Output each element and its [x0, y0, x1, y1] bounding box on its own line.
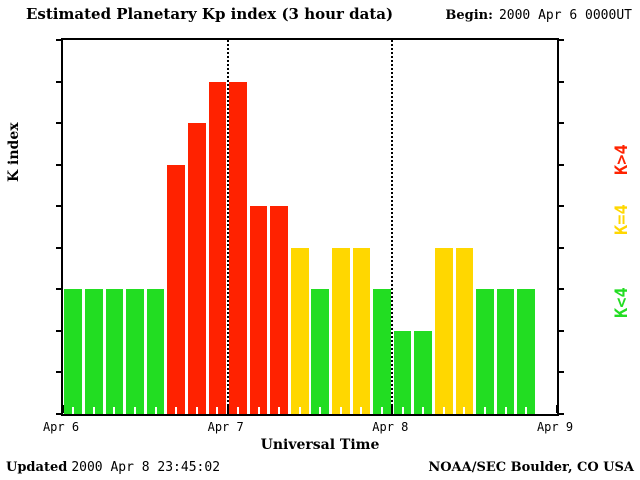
bar — [85, 289, 103, 414]
bar-base-notch — [299, 407, 301, 414]
footer-updated: Updated2000 Apr 8 23:45:02 — [6, 460, 220, 475]
bar-base-notch — [72, 407, 74, 414]
bar — [64, 289, 82, 414]
y-axis-tick — [56, 205, 63, 207]
bar — [394, 331, 412, 414]
bar-base-notch — [381, 407, 383, 414]
bar-base-notch — [134, 407, 136, 414]
y-axis-tick — [56, 122, 63, 124]
plot-area: 0123456789 — [63, 40, 557, 414]
y-axis-tick-right — [557, 330, 564, 332]
bar — [209, 82, 227, 414]
bar — [435, 248, 453, 414]
y-axis-tick — [56, 164, 63, 166]
legend-entry-k-less-than-4: K<4 — [612, 287, 632, 318]
y-axis-tick-right — [557, 288, 564, 290]
bar — [517, 289, 535, 414]
begin-value: 2000 Apr 6 0000UT — [499, 8, 632, 23]
bar — [414, 331, 432, 414]
bar — [476, 289, 494, 414]
y-axis-title: K index — [6, 166, 22, 182]
begin-time-block: Begin:2000 Apr 6 0000UT — [445, 8, 632, 23]
bar-base-notch — [360, 407, 362, 414]
y-axis-tick — [56, 247, 63, 249]
x-axis-tick-label: Apr 8 — [372, 420, 408, 434]
bar-base-notch — [237, 407, 239, 414]
legend-entry-k-greater-than-4: K>4 — [612, 144, 632, 175]
bar — [497, 289, 515, 414]
bar — [229, 82, 247, 414]
bar-base-notch — [402, 407, 404, 414]
bar-base-notch — [93, 407, 95, 414]
y-axis-tick-right — [557, 122, 564, 124]
bar — [332, 248, 350, 414]
x-axis-tick-label: Apr 9 — [537, 420, 573, 434]
bar-base-notch — [258, 407, 260, 414]
bar — [291, 248, 309, 414]
begin-label: Begin: — [445, 8, 493, 23]
bar-base-notch — [155, 407, 157, 414]
bar — [147, 289, 165, 414]
bar-base-notch — [113, 407, 115, 414]
bar — [373, 289, 391, 414]
x-axis-tick — [556, 405, 558, 413]
bar-base-notch — [484, 407, 486, 414]
bar-base-notch — [216, 407, 218, 414]
bar — [250, 206, 268, 414]
updated-timestamp: 2000 Apr 8 23:45:02 — [71, 460, 220, 475]
bar-base-notch — [278, 407, 280, 414]
updated-label: Updated — [6, 460, 67, 475]
x-axis-tick-label: Apr 7 — [208, 420, 244, 434]
bar — [311, 289, 329, 414]
x-axis-tick-label: Apr 6 — [43, 420, 79, 434]
bar-base-notch — [340, 407, 342, 414]
bar — [126, 289, 144, 414]
y-axis-tick — [56, 288, 63, 290]
y-axis-tick — [56, 413, 63, 415]
bar — [188, 123, 206, 414]
bar — [353, 248, 371, 414]
y-axis-tick-right — [557, 39, 564, 41]
bar — [167, 165, 185, 414]
y-axis-tick-right — [557, 247, 564, 249]
footer-source: NOAA/SEC Boulder, CO USA — [428, 460, 634, 475]
bar-base-notch — [196, 407, 198, 414]
y-axis-tick — [56, 39, 63, 41]
plot-frame: 0123456789 — [61, 38, 559, 416]
y-axis-tick-right — [557, 413, 564, 415]
bar-base-notch — [505, 407, 507, 414]
y-axis-tick — [56, 81, 63, 83]
y-axis-tick-right — [557, 164, 564, 166]
bar-base-notch — [443, 407, 445, 414]
bar — [270, 206, 288, 414]
legend-entry-k-equals-4: K=4 — [612, 204, 632, 235]
bar-base-notch — [175, 407, 177, 414]
x-axis-title: Universal Time — [0, 437, 640, 453]
bar-base-notch — [525, 407, 527, 414]
bar-base-notch — [463, 407, 465, 414]
y-axis-tick-right — [557, 205, 564, 207]
bar-base-notch — [319, 407, 321, 414]
y-axis-tick-right — [557, 81, 564, 83]
y-axis-tick — [56, 330, 63, 332]
y-axis-tick-right — [557, 371, 564, 373]
bar — [456, 248, 474, 414]
bar — [106, 289, 124, 414]
page-title: Estimated Planetary Kp index (3 hour dat… — [26, 5, 393, 23]
bar-base-notch — [422, 407, 424, 414]
y-axis-tick — [56, 371, 63, 373]
